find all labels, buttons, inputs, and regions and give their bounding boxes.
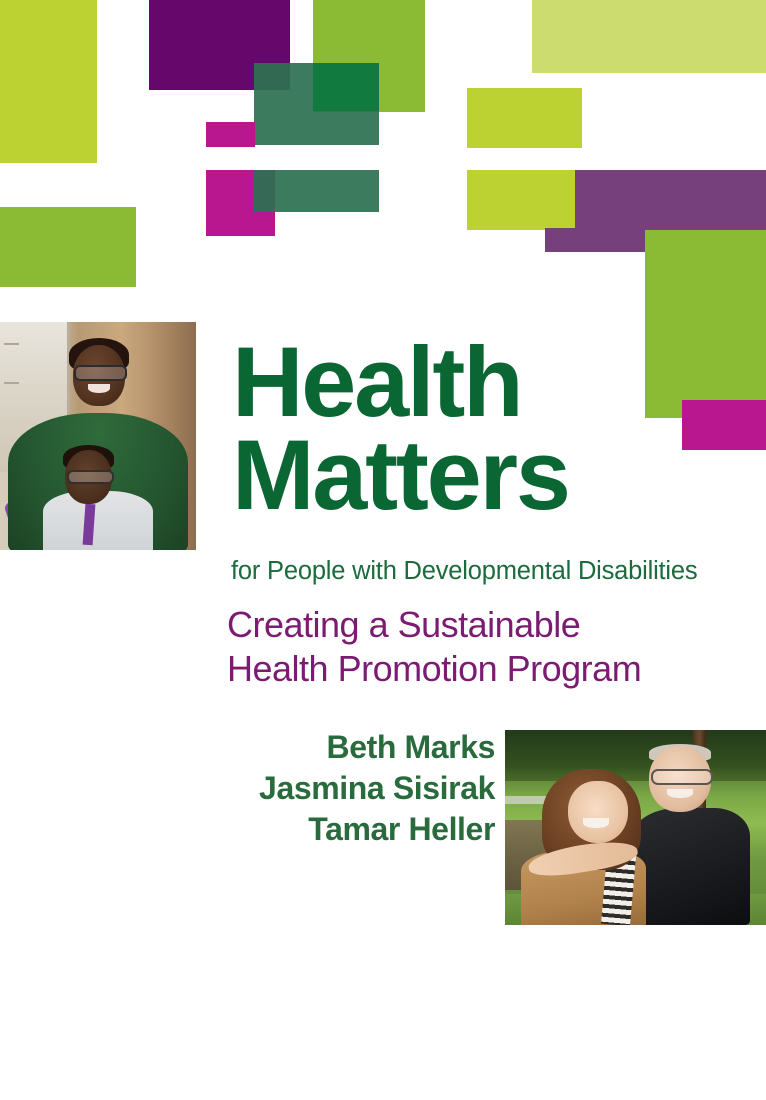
- book-secondary-title: Creating a Sustainable Health Promotion …: [227, 603, 766, 690]
- mosaic-block-magenta-small-left: [206, 122, 255, 147]
- photo-couple-outdoors: [505, 730, 766, 925]
- photo-left-door-line-top: [4, 343, 19, 345]
- author-name-1: Beth Marks: [180, 727, 495, 768]
- book-subtitle: for People with Developmental Disabiliti…: [231, 557, 761, 585]
- photo-two-people-indoors: [0, 322, 196, 550]
- photo-left-standing-person-glasses: [74, 365, 127, 380]
- photo-left-standing-person-smile: [88, 384, 110, 393]
- photo-left-seated-person-glasses: [67, 470, 114, 484]
- book-title: Health Matters: [232, 335, 752, 521]
- photo-right-man-body: [630, 808, 750, 925]
- secondary-title-line-1: Creating a Sustainable: [227, 603, 766, 647]
- author-name-2: Jasmina Sisirak: [180, 768, 495, 809]
- title-line-2: Matters: [232, 428, 752, 521]
- photo-left-door-line-bottom: [4, 382, 19, 384]
- mosaic-block-pale-lime-top-right: [532, 0, 766, 73]
- photo-right-woman-head: [568, 781, 628, 843]
- mosaic-block-teal-green-lower: [254, 170, 379, 212]
- book-cover: Health Matters for People with Developme…: [0, 0, 766, 1100]
- mosaic-block-lime-square-right: [467, 88, 582, 148]
- author-name-3: Tamar Heller: [180, 809, 495, 850]
- author-list: Beth Marks Jasmina Sisirak Tamar Heller: [180, 727, 495, 850]
- mosaic-block-lime-tall-left: [0, 0, 97, 163]
- photo-right-trees: [505, 730, 766, 781]
- mosaic-block-mid-green-bottom-left: [0, 207, 136, 287]
- secondary-title-line-2: Health Promotion Program: [227, 647, 766, 691]
- mosaic-block-lime-square-right-2: [467, 170, 582, 230]
- mosaic-block-dark-green-overlap: [313, 63, 379, 111]
- photo-right-woman-smile: [583, 818, 609, 828]
- photo-right-man-glasses: [651, 769, 712, 785]
- title-line-1: Health: [232, 335, 752, 428]
